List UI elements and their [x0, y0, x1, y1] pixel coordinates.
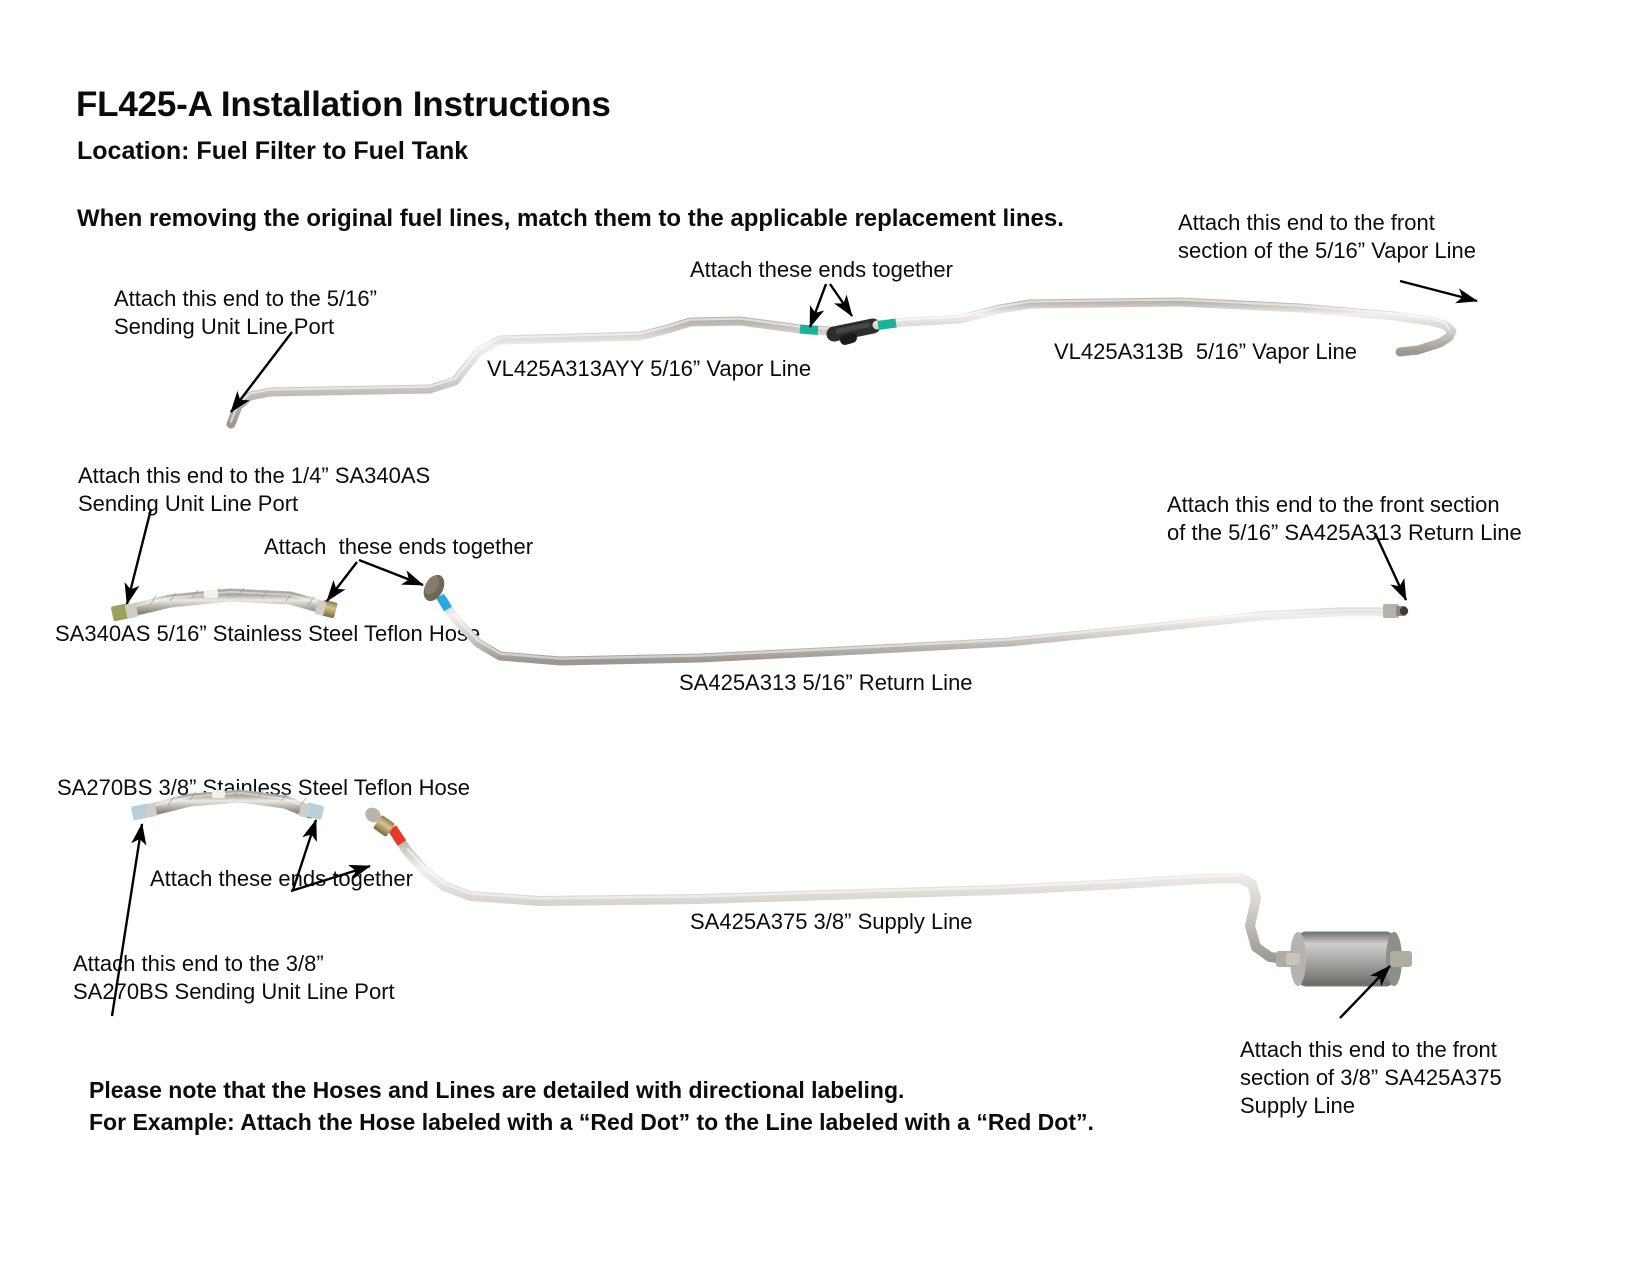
fuel-filter: [1276, 932, 1420, 986]
row2-blue-marker: [440, 596, 448, 609]
row2-line-end-fitting-left: [419, 571, 448, 604]
filter-inlet-fitting: [1276, 951, 1300, 967]
row2-callout-mid: Attach these ends together: [264, 533, 533, 562]
row2-hose-fitting-right: [314, 600, 337, 619]
row1-right-teal-marker: [878, 323, 896, 326]
row3-callout-mid: Attach these ends together: [150, 865, 413, 894]
row2-hose-band: [204, 590, 218, 598]
row2-arrow-mid-right: [359, 560, 423, 585]
row1-part-label-right: VL425A313B 5/16” Vapor Line: [1054, 338, 1357, 367]
page-title: FL425-A Installation Instructions: [76, 82, 611, 128]
row2-return-line: [419, 571, 1408, 661]
row3-callout-right-line1: Attach this end to the front: [1240, 1036, 1497, 1065]
row1-left-teal-marker: [800, 329, 818, 331]
row2-callout-right-line1: Attach this end to the front section: [1167, 491, 1500, 520]
row1-quick-connect: [834, 325, 873, 340]
row2-line-label: SA425A313 5/16” Return Line: [679, 669, 973, 698]
row3-hose-fitting-left: [131, 803, 158, 820]
row3-supply-line: [362, 805, 1420, 986]
row3-hose-fitting-right: [298, 802, 324, 820]
row3-hose-label: SA270BS 3/8” Stainless Steel Teflon Hose: [57, 774, 470, 803]
footer-note-line2: For Example: Attach the Hose labeled wit…: [89, 1108, 1094, 1138]
instruction-sheet-page: FL425-A Installation Instructions Locati…: [0, 0, 1650, 1275]
row3-line-end-fitting: [362, 805, 395, 837]
row3-red-marker: [392, 828, 402, 843]
row3-line-label: SA425A375 3/8” Supply Line: [690, 908, 973, 937]
row1-callout-right-line1: Attach this end to the front: [1178, 209, 1435, 238]
footer-note-line1: Please note that the Hoses and Lines are…: [89, 1076, 904, 1106]
row2-arrow-left: [127, 509, 151, 604]
row2-callout-left-line1: Attach this end to the 1/4” SA340AS: [78, 462, 430, 491]
row2-hose-fitting-left: [111, 603, 139, 622]
row1-callout-left-line2: Sending Unit Line Port: [114, 313, 334, 342]
row2-line-end-fitting-right: [1383, 604, 1408, 618]
row2-hose-label: SA340AS 5/16” Stainless Steel Teflon Hos…: [55, 620, 480, 649]
row2-callout-left-line2: Sending Unit Line Port: [78, 490, 298, 519]
row1-callout-mid: Attach these ends together: [690, 256, 953, 285]
row1-callout-left-line1: Attach this end to the 5/16”: [114, 285, 377, 314]
row1-arrow-mid-left: [810, 284, 826, 327]
row1-part-label-left: VL425A313AYY 5/16” Vapor Line: [487, 355, 811, 384]
row1-callout-right-line2: section of the 5/16” Vapor Line: [1178, 237, 1476, 266]
filter-outlet-fitting: [1390, 951, 1412, 967]
row1-arrow-mid-right: [830, 284, 852, 316]
row3-callout-left-line1: Attach this end to the 3/8”: [73, 950, 324, 979]
row1-arrow-left: [231, 332, 292, 412]
row3-callout-right-line3: Supply Line: [1240, 1092, 1355, 1121]
lead-instruction: When removing the original fuel lines, m…: [77, 203, 1064, 234]
row3-callout-right-line2: section of 3/8” SA425A375: [1240, 1064, 1502, 1093]
row3-arrow-right: [1340, 966, 1390, 1018]
row2-sa340as-hose: [111, 588, 338, 621]
row2-callout-right-line2: of the 5/16” SA425A313 Return Line: [1167, 519, 1522, 548]
page-subtitle-location: Location: Fuel Filter to Fuel Tank: [77, 135, 468, 168]
row2-arrow-mid-left: [327, 562, 357, 601]
row1-arrow-right: [1400, 281, 1477, 301]
row3-callout-left-line2: SA270BS Sending Unit Line Port: [73, 978, 395, 1007]
